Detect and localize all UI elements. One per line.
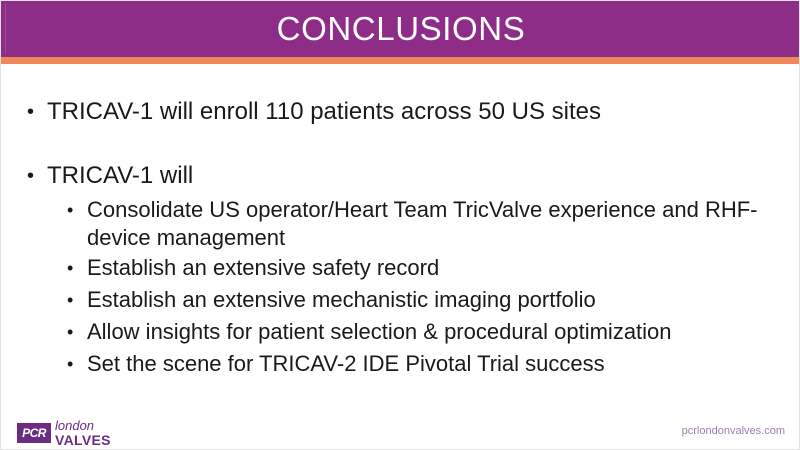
bullet-icon: • [67, 286, 87, 314]
bullet-icon: • [67, 318, 87, 346]
sub-list-item-label: Set the scene for TRICAV-2 IDE Pivotal T… [87, 350, 777, 378]
slide-body: • TRICAV-1 will enroll 110 patients acro… [1, 64, 800, 401]
sub-list-item: • Establish an extensive mechanistic ima… [67, 286, 777, 314]
pcr-logo-text: PCR [22, 426, 46, 440]
footer-website-url: pcrlondonvalves.com [682, 425, 785, 437]
logo-wordmark: london VALVES [55, 419, 111, 447]
sub-list-item: • Consolidate US operator/Heart Team Tri… [67, 196, 777, 252]
sub-list-item: • Establish an extensive safety record [67, 254, 777, 282]
sub-list-item-label: Allow insights for patient selection & p… [87, 318, 777, 346]
page-title: CONCLUSIONS [1, 1, 800, 57]
sub-list-item: • Allow insights for patient selection &… [67, 318, 777, 346]
bullet-icon: • [27, 161, 47, 191]
list-item: • TRICAV-1 will enroll 110 patients acro… [27, 97, 767, 127]
list-item-label: TRICAV-1 will [47, 161, 767, 191]
logo-word-london: london [55, 419, 111, 432]
header-band: CONCLUSIONS [1, 1, 800, 57]
slide-footer: PCR london VALVES pcrlondonvalves.com [1, 401, 800, 450]
pcr-london-valves-logo: PCR london VALVES [17, 419, 111, 447]
list-item-label: TRICAV-1 will enroll 110 patients across… [47, 97, 767, 127]
sub-list-item-label: Establish an extensive safety record [87, 254, 777, 282]
slide: CONCLUSIONS • TRICAV-1 will enroll 110 p… [0, 0, 800, 450]
accent-bar [1, 57, 800, 64]
list-item: • TRICAV-1 will [27, 161, 767, 191]
bullet-icon: • [67, 254, 87, 282]
sub-list-item-label: Establish an extensive mechanistic imagi… [87, 286, 777, 314]
bullet-icon: • [67, 350, 87, 378]
logo-word-valves: VALVES [55, 433, 111, 447]
bullet-icon: • [27, 97, 47, 127]
sub-list-item-label: Consolidate US operator/Heart Team TricV… [87, 196, 777, 252]
pcr-logo-mark: PCR [17, 423, 51, 443]
bullet-icon: • [67, 196, 87, 224]
sub-list-item: • Set the scene for TRICAV-2 IDE Pivotal… [67, 350, 777, 378]
